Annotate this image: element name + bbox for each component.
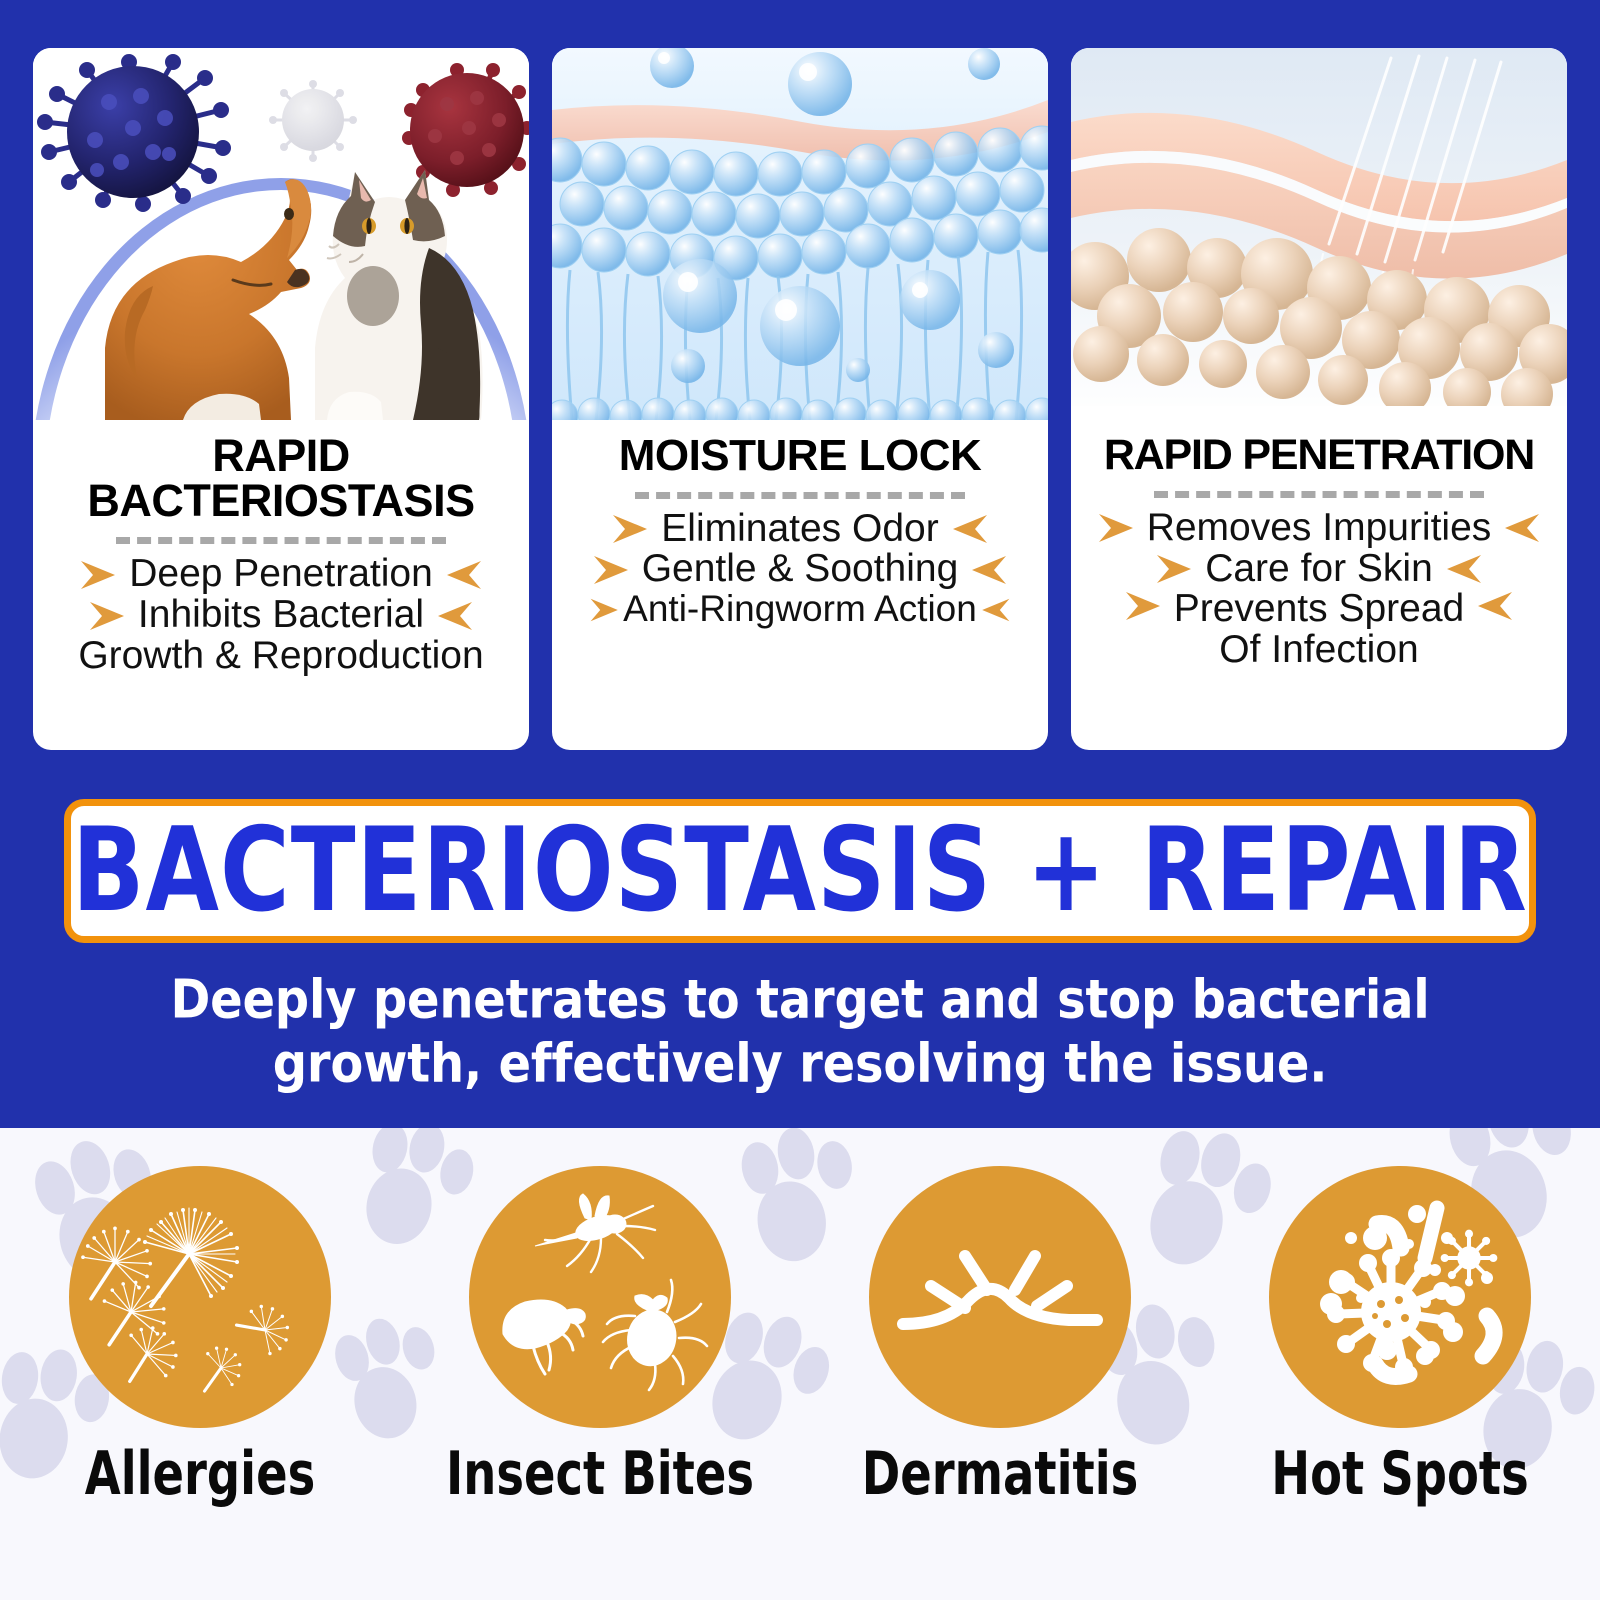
chevron-right-icon <box>611 512 651 546</box>
condition-insect-bites: Insect Bites <box>400 1166 800 1505</box>
feature-cards-row: RAPID BACTERIOSTASIS Deep Penetration In… <box>0 0 1600 1128</box>
dashed-divider <box>1154 491 1484 498</box>
card-title: RAPID BACTERIOSTASIS <box>43 434 519 523</box>
chevron-left-icon <box>443 558 483 592</box>
conditions-icon-strip: Allergies <box>0 1128 1600 1600</box>
condition-label: Insect Bites <box>428 1439 772 1508</box>
feature-card-rapid-penetration: RAPID PENETRATION Removes Impurities Car… <box>1071 48 1567 750</box>
condition-icon-circle <box>1269 1166 1531 1428</box>
condition-label: Dermatitis <box>828 1439 1172 1508</box>
chevron-left-icon <box>1443 552 1483 586</box>
list-item: Prevents Spread Of Infection <box>1081 589 1557 671</box>
card-body: RAPID PENETRATION Removes Impurities Car… <box>1071 420 1567 681</box>
bullet-text: Removes Impurities <box>1147 508 1492 549</box>
dog-and-cat-with-virus-particles-photo <box>33 48 529 420</box>
list-item: Deep Penetration <box>43 554 519 595</box>
bullet-text: Eliminates Odor <box>661 509 938 550</box>
chevron-left-icon <box>1501 511 1541 545</box>
condition-icon-circle <box>469 1166 731 1428</box>
chevron-right-icon <box>592 553 632 587</box>
list-item: Care for Skin <box>1081 549 1557 590</box>
dashed-divider <box>635 492 965 499</box>
bullet-text: Prevents Spread Of Infection <box>1174 589 1465 671</box>
list-item: Anti-Ringworm Action <box>562 590 1038 629</box>
infographic-page: RAPID BACTERIOSTASIS Deep Penetration In… <box>0 0 1600 1600</box>
chevron-left-icon <box>1474 589 1514 623</box>
card-title: MOISTURE LOCK <box>562 434 1038 478</box>
chevron-right-icon <box>1124 589 1164 623</box>
subtitle-text: Deeply penetrates to target and stop bac… <box>60 968 1540 1095</box>
condition-icon-circle <box>869 1166 1131 1428</box>
condition-label: Hot Spots <box>1228 1439 1572 1508</box>
dashed-divider <box>116 537 446 544</box>
bullet-list: Eliminates Odor Gentle & Soothing Anti-R… <box>562 509 1038 630</box>
bullet-text: Care for Skin <box>1205 549 1433 590</box>
condition-allergies: Allergies <box>0 1166 400 1505</box>
chevron-right-icon <box>589 593 621 627</box>
feature-card-rapid-bacteriostasis: RAPID BACTERIOSTASIS Deep Penetration In… <box>33 48 529 750</box>
bullet-text: Inhibits Bacterial <box>138 595 424 636</box>
chevron-left-icon <box>979 593 1011 627</box>
list-item: Removes Impurities <box>1081 508 1557 549</box>
condition-hot-spots: Hot Spots <box>1200 1166 1600 1505</box>
chevron-left-icon <box>434 599 474 633</box>
feature-card-moisture-lock: MOISTURE LOCK Eliminates Odor Gentle & S… <box>552 48 1048 750</box>
bullet-list: Removes Impurities Care for Skin Prevent… <box>1081 508 1557 672</box>
conditions-section: Allergies <box>0 1128 1600 1600</box>
irritated-skin-bump-icon <box>869 1166 1131 1428</box>
bullet-list: Deep Penetration Inhibits Bacterial Grow… <box>43 554 519 677</box>
list-item: Eliminates Odor <box>562 509 1038 550</box>
card-body: MOISTURE LOCK Eliminates Odor Gentle & S… <box>552 420 1048 639</box>
list-item: Growth & Reproduction <box>43 636 519 677</box>
dandelion-pollen-icon <box>69 1166 331 1428</box>
card-body: RAPID BACTERIOSTASIS Deep Penetration In… <box>33 420 529 687</box>
condition-icon-circle <box>69 1166 331 1428</box>
bullet-text: Anti-Ringworm Action <box>623 590 977 629</box>
condition-label: Allergies <box>28 1439 372 1508</box>
bullet-text: Growth & Reproduction <box>78 636 483 677</box>
mosquito-flea-tick-icon <box>469 1166 731 1428</box>
bullet-text: Deep Penetration <box>129 554 433 595</box>
list-item: Inhibits Bacterial <box>43 595 519 636</box>
card-title: RAPID PENETRATION <box>1081 434 1557 477</box>
headline-banner: BACTERIOSTASIS + REPAIR <box>64 799 1536 943</box>
chevron-right-icon <box>79 558 119 592</box>
chevron-left-icon <box>968 553 1008 587</box>
chevron-right-icon <box>1097 511 1137 545</box>
bacteria-germs-icon <box>1269 1166 1531 1428</box>
chevron-right-icon <box>88 599 128 633</box>
skin-cross-section-penetration-photo <box>1071 48 1567 420</box>
headline-text: BACTERIOSTASIS + REPAIR <box>72 804 1528 938</box>
blue-moisture-bubbles-skin-layer-photo <box>552 48 1048 420</box>
chevron-right-icon <box>1155 552 1195 586</box>
chevron-left-icon <box>949 512 989 546</box>
bullet-text: Gentle & Soothing <box>642 549 959 590</box>
condition-dermatitis: Dermatitis <box>800 1166 1200 1505</box>
list-item: Gentle & Soothing <box>562 549 1038 590</box>
